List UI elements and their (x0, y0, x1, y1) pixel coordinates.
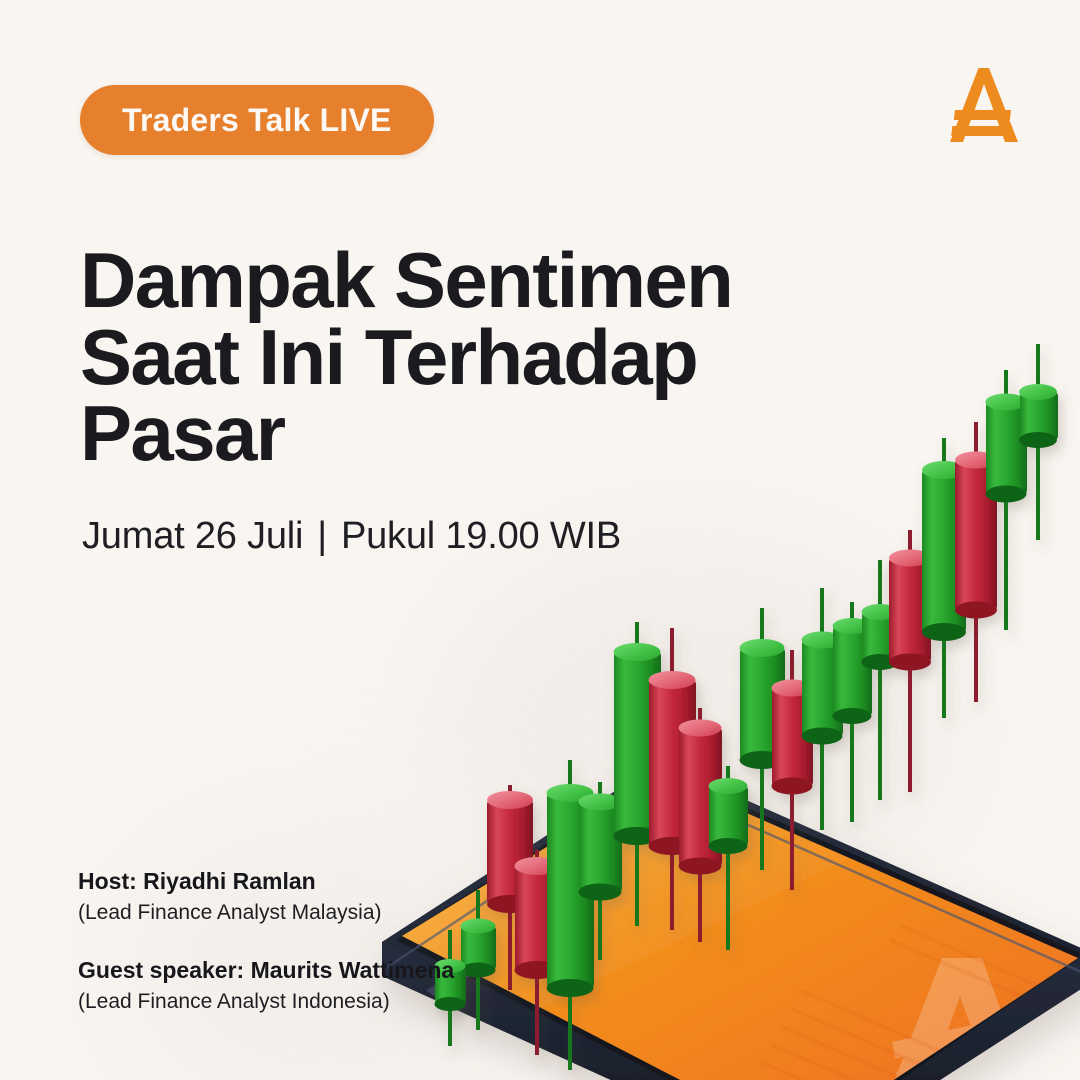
live-badge[interactable]: Traders Talk LIVE (80, 85, 434, 155)
guest-name: Guest speaker: Maurits Wattimena (78, 955, 548, 986)
live-badge-label: Traders Talk LIVE (122, 102, 392, 139)
guest-role: (Lead Finance Analyst Indonesia) (78, 988, 548, 1016)
headline-line-2: Saat Ini Terhadap (80, 319, 820, 395)
guest-credit: Guest speaker: Maurits Wattimena (Lead F… (78, 955, 548, 1016)
event-time: Pukul 19.00 WIB (341, 515, 621, 558)
headline-line-1: Dampak Sentimen (80, 242, 820, 318)
brand-logo-icon (938, 62, 1030, 154)
headline-line-3: Pasar (80, 395, 820, 471)
event-date: Jumat 26 Juli (82, 515, 303, 558)
speaker-credits: Host: Riyadhi Ramlan (Lead Finance Analy… (78, 866, 548, 1045)
page-title: Dampak Sentimen Saat Ini Terhadap Pasar (80, 242, 820, 471)
schedule-separator: | (317, 515, 327, 558)
candle-bullish (1019, 344, 1058, 540)
poster-canvas: Traders Talk LIVE Dampak Sentimen Saat I… (0, 0, 1080, 1080)
host-name: Host: Riyadhi Ramlan (78, 866, 548, 897)
event-schedule: Jumat 26 Juli | Pukul 19.00 WIB (82, 515, 621, 558)
host-role: (Lead Finance Analyst Malaysia) (78, 899, 548, 927)
host-credit: Host: Riyadhi Ramlan (Lead Finance Analy… (78, 866, 548, 927)
